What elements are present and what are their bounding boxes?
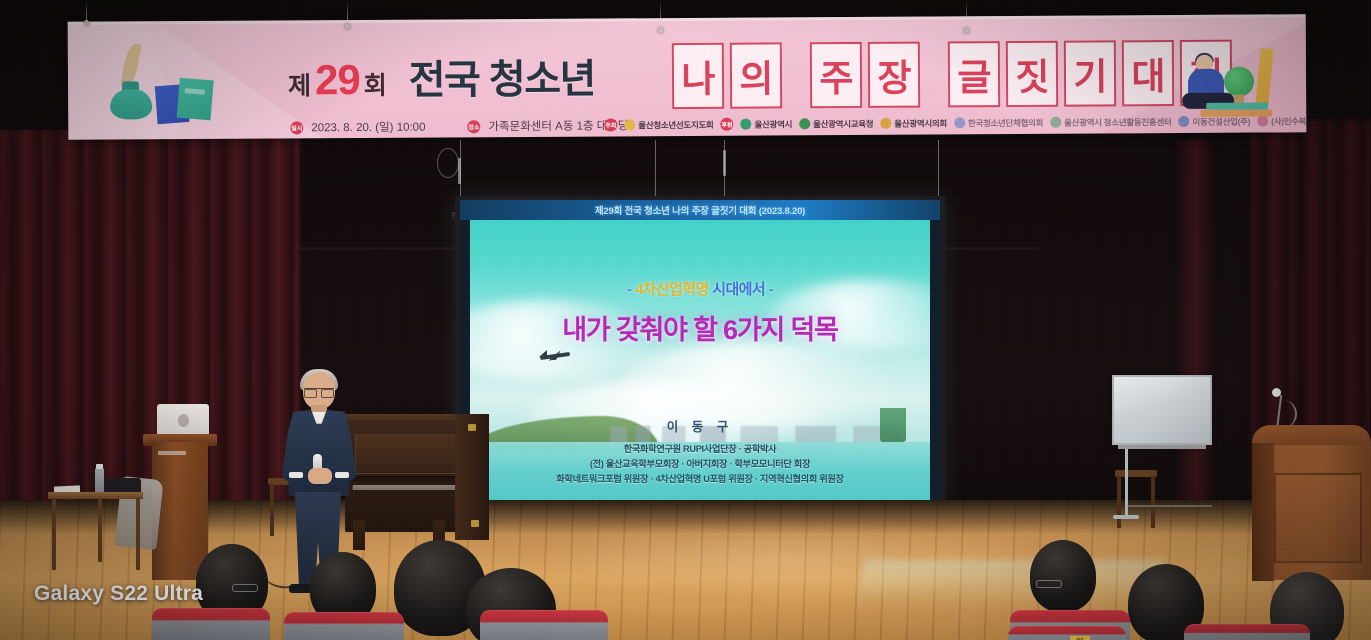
sponsor-logo-icon	[1050, 117, 1061, 128]
speaker-cuff	[335, 472, 349, 478]
stage-chair-right	[1115, 470, 1161, 532]
sponsor-logo-icon	[954, 117, 965, 128]
sponsor-item: 울산광역시 청소년활동진흥센터	[1050, 116, 1171, 129]
boxed-char: 의	[730, 42, 782, 108]
chair-leg	[1117, 476, 1121, 528]
stage-curtain-mid-right	[1175, 140, 1215, 540]
chair-leg	[270, 484, 274, 536]
side-table-top	[48, 492, 143, 499]
glasses-icon	[232, 584, 258, 592]
slide-subtitle-dash-right: -	[769, 281, 773, 298]
whiteboard-crossbar	[1126, 505, 1212, 507]
banner-title: 제 29 회 전국 청소년	[288, 47, 595, 107]
slide-subtitle-rest: 시대에서	[709, 281, 765, 298]
sponsor-item: 울산광역시의회	[880, 117, 947, 129]
podium-left-slot	[158, 451, 186, 455]
event-banner: 제 29 회 전국 청소년 나 의 주 장 글 짓 기 대 회 일시 2023.…	[68, 14, 1307, 140]
banner-hook	[964, 28, 969, 33]
sponsor-name: 울산광역시 청소년활동진흥센터	[1064, 116, 1171, 129]
slide-credits: 한국화학연구원 RUPI사업단장 · 공학박사 (전) 울산교육학부모회장 · …	[470, 442, 930, 487]
book-stack-icon	[1200, 109, 1272, 116]
location-pin-icon: 장소	[467, 120, 480, 133]
sponsor-name: 한국청소년단체협의회	[968, 116, 1043, 128]
banner-illustration-left	[96, 47, 206, 128]
slide-main-title: 내가 갖춰야 할 6가지 덕목	[470, 308, 930, 347]
sponsor-item: 울산광역시	[740, 118, 792, 130]
audience-area: 좌석	[0, 548, 1371, 640]
auditorium-seat[interactable]	[152, 608, 270, 640]
pencil-icon	[1255, 48, 1274, 107]
airplane-icon	[536, 350, 570, 362]
banner-illustration-right	[1170, 32, 1291, 125]
slide-subtitle-dash-left: -	[627, 281, 631, 298]
sponsor-item: 한국청소년단체협의회	[954, 116, 1043, 129]
sponsor-item: 울산광역시교육청	[799, 117, 873, 129]
banner-boxed-characters: 나 의 주 장 글 짓 기 대 회	[672, 40, 1232, 109]
audience-head	[1030, 540, 1096, 612]
sponsor-logo-icon	[799, 118, 810, 129]
banner-title-prefix: 제	[288, 66, 311, 102]
boxed-char: 나	[672, 43, 724, 109]
slide-header-bar: 제29회 전국 청소년 나의 주장 글짓기 대회 (2023.8.20)	[460, 200, 940, 220]
projection-screen: 제29회 전국 청소년 나의 주장 글짓기 대회 (2023.8.20) - 4…	[460, 200, 940, 500]
whiteboard-tray	[1118, 445, 1206, 449]
sponsor-name: 울산광역시	[754, 118, 792, 130]
boxed-char: 대	[1122, 40, 1174, 106]
boxed-char: 글	[948, 41, 1000, 107]
credit-line: (전) 울산교육학부모회장 · 아버지회장 · 학부모모니터단 회장	[470, 457, 930, 472]
auditorium-seat[interactable]	[1008, 626, 1126, 640]
sponsor-item: 울산청소년선도지도회	[624, 118, 713, 131]
slide-speaker-name: 이 동 구	[470, 416, 930, 435]
whiteboard-base	[1113, 515, 1139, 519]
slide-subtitle: - 4차산업혁명 시대에서 -	[470, 278, 930, 299]
rigging-turnbuckle	[723, 150, 726, 176]
auditorium-seat[interactable]	[1184, 624, 1310, 640]
banner-hook	[84, 20, 89, 25]
sponsor-logo-icon	[880, 118, 891, 129]
sponsor-logo-icon	[624, 119, 635, 130]
ink-bottle-icon	[110, 89, 152, 119]
rigging-ring	[437, 148, 459, 178]
banner-title-number: 29	[315, 59, 360, 101]
banner-wire	[347, 0, 348, 26]
sponsor-logo-icon	[740, 119, 751, 130]
credit-line: 화학네트워크포럼 위원장 · 4차산업혁명 U포럼 위원장 · 지역혁신협의회 …	[470, 472, 930, 487]
boxed-char: 장	[868, 42, 920, 108]
banner-title-suffix: 회	[364, 66, 387, 102]
book-green-icon	[177, 78, 214, 121]
credit-line: 한국화학연구원 RUPI사업단장 · 공학박사	[470, 442, 930, 457]
laptop-logo-icon	[178, 414, 189, 427]
banner-hook	[658, 28, 663, 33]
banner-wire	[660, 0, 661, 30]
auditorium-seat[interactable]	[480, 610, 608, 640]
upright-piano	[345, 420, 485, 560]
glasses-icon	[304, 388, 334, 395]
sponsor-name: 울산청소년선도지도회	[638, 118, 713, 130]
banner-wire	[86, 0, 87, 22]
banner-wire	[966, 0, 967, 30]
glasses-icon	[1036, 580, 1062, 588]
seat-number-tag: 좌석	[1070, 636, 1090, 640]
slide-subtitle-highlight: 4차산업혁명	[635, 281, 709, 298]
support-badge-icon: 후원	[720, 118, 733, 131]
slide-body: - 4차산업혁명 시대에서 - 내가 갖춰야 할 6가지 덕목 이 동 구 한국…	[470, 220, 930, 500]
speaker-cuff	[289, 472, 303, 478]
piano-hardware-icon	[468, 424, 476, 431]
boxed-char: 주	[810, 42, 862, 108]
boxed-char: 기	[1064, 40, 1116, 106]
banner-date-text: 2023. 8. 20. (일) 10:00	[311, 119, 425, 136]
sponsor-name: 울산광역시교육청	[813, 117, 873, 129]
chair-leg	[1151, 476, 1155, 528]
auditorium-seat[interactable]	[284, 612, 404, 640]
camera-watermark: Galaxy S22 Ultra	[34, 582, 203, 606]
banner-title-main: 전국 청소년	[409, 47, 595, 106]
auditorium-photo: 제 29 회 전국 청소년 나 의 주 장 글 짓 기 대 회 일시 2023.…	[0, 0, 1371, 640]
sponsor-name: 울산광역시의회	[894, 117, 947, 129]
host-badge-icon: 주최	[604, 118, 617, 131]
boxed-char: 짓	[1006, 41, 1058, 107]
stage-curtain-left	[0, 130, 300, 530]
whiteboard	[1112, 375, 1212, 445]
slide-header-text: 제29회 전국 청소년 나의 주장 글짓기 대회 (2023.8.20)	[595, 203, 805, 217]
piano-hardware-icon	[471, 520, 479, 527]
banner-info-row: 일시 2023. 8. 20. (일) 10:00 장소 가족문화센터 A동 1…	[290, 117, 628, 135]
rigging-turnbuckle	[458, 158, 461, 184]
banner-hook	[345, 24, 350, 29]
speaker-hands	[308, 468, 332, 484]
calendar-icon: 일시	[290, 121, 303, 134]
